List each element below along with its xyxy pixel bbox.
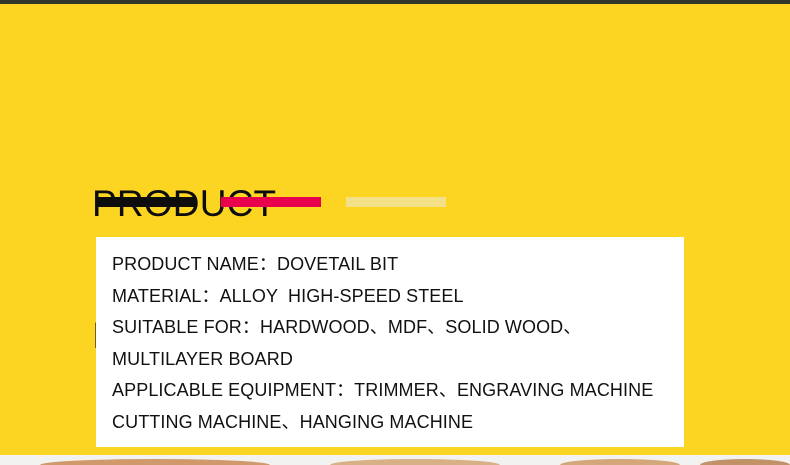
divider-rule-red — [221, 197, 321, 207]
spec-line-applicable-equipment: APPLICABLE EQUIPMENT：TRIMMER、ENGRAVING M… — [112, 375, 676, 407]
next-image-preview-band — [0, 455, 790, 465]
yellow-poster-panel: PRODUCT INFORMATION PRODUCT NAME：DOVETAI… — [0, 4, 790, 455]
spec-line-material: MATERIAL：ALLOY HIGH-SPEED STEEL — [112, 281, 676, 313]
divider-rule-cream — [346, 197, 446, 207]
preview-shape — [700, 459, 790, 465]
spec-line-product-name: PRODUCT NAME：DOVETAIL BIT — [112, 249, 676, 281]
preview-shape — [40, 459, 270, 465]
spec-line-suitable-for: SUITABLE FOR：HARDWOOD、MDF、SOLID WOOD、 — [112, 312, 676, 344]
specification-list: PRODUCT NAME：DOVETAIL BIT MATERIAL：ALLOY… — [112, 249, 676, 438]
title-divider-rules — [96, 197, 456, 207]
preview-shape — [330, 459, 500, 465]
spec-line-suitable-for-cont: MULTILAYER BOARD — [112, 344, 676, 376]
preview-shape — [560, 459, 680, 465]
specification-card: PRODUCT NAME：DOVETAIL BIT MATERIAL：ALLOY… — [96, 237, 684, 447]
divider-rule-black — [96, 197, 196, 207]
spec-line-applicable-equipment-cont: CUTTING MACHINE、HANGING MACHINE — [112, 407, 676, 439]
product-information-poster: PRODUCT INFORMATION PRODUCT NAME：DOVETAI… — [0, 0, 790, 465]
